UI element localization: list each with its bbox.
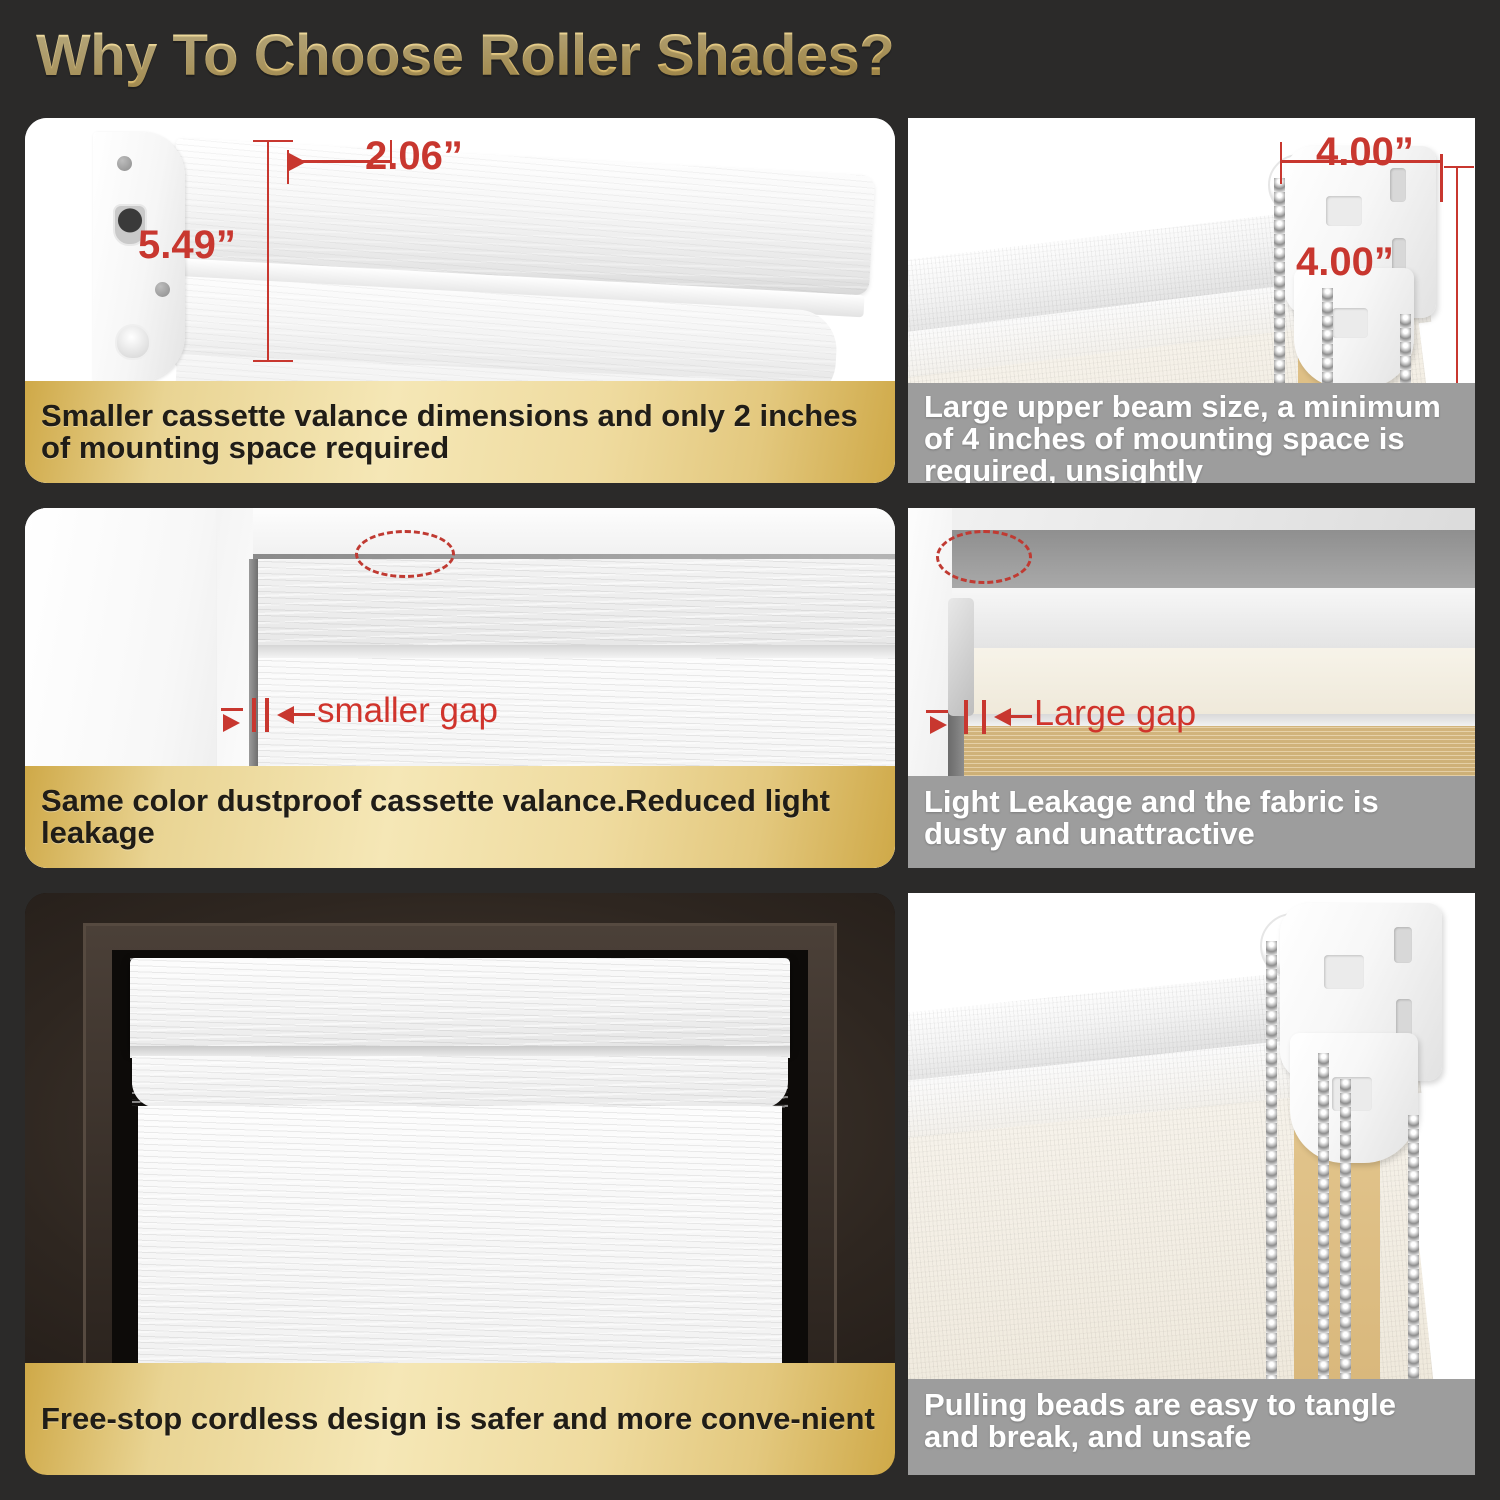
- bead-chain: [1340, 1079, 1351, 1383]
- dim-tick-right: [1440, 154, 1443, 202]
- dim-line-height: [267, 140, 269, 362]
- gap-arrow-shaft: [221, 708, 243, 711]
- panel-large-beam: 4.00” 4.00” Large upper beam size, a min…: [908, 118, 1475, 483]
- bead-chain: [1318, 1053, 1329, 1383]
- window-header: [253, 508, 895, 554]
- bracket-emboss-icon: [1332, 308, 1368, 338]
- dimension-label-height: 5.49”: [138, 223, 236, 268]
- bracket-emboss-icon: [1324, 955, 1364, 989]
- bead-chain: [1266, 941, 1277, 1381]
- gap-tick-right: [982, 700, 986, 734]
- panel-light-leakage: Large gap Light Leakage and the fabric i…: [908, 508, 1475, 868]
- gap-callout-label: Large gap: [1034, 692, 1196, 734]
- bracket-slot-icon: [1394, 927, 1412, 963]
- bead-chain: [1408, 1115, 1419, 1383]
- dimension-label-width: 4.00”: [1316, 130, 1414, 175]
- screw-icon: [155, 282, 170, 297]
- panel-4-caption-text: Light Leakage and the fabric is dusty an…: [924, 786, 1459, 850]
- panel-5-caption: Free-stop cordless design is safer and m…: [25, 1363, 895, 1475]
- cassette-valance: [257, 559, 895, 645]
- panel-2-caption-text: Large upper beam size, a minimum of 4 in…: [924, 391, 1459, 483]
- infographic-root: Why To Choose Roller Shades? 2.06”: [0, 0, 1500, 1500]
- bracket-emboss-icon: [1332, 1077, 1372, 1111]
- panel-6-caption: Pulling beads are easy to tangle and bre…: [908, 1379, 1475, 1475]
- bracket-emboss-icon: [1326, 196, 1362, 226]
- gap-arrow-shaft: [1010, 715, 1032, 718]
- panel-cordless-design: Free-stop cordless design is safer and m…: [25, 893, 895, 1475]
- gap-callout-label: smaller gap: [317, 691, 498, 731]
- panel-6-caption-text: Pulling beads are easy to tangle and bre…: [924, 1389, 1459, 1453]
- panel-1-caption: Smaller cassette valance dimensions and …: [25, 381, 895, 483]
- gap-tick-left: [964, 700, 968, 734]
- panel-1-caption-text: Smaller cassette valance dimensions and …: [41, 400, 879, 464]
- dim-tick-top: [1444, 166, 1474, 168]
- gap-arrow-shaft: [293, 713, 315, 716]
- panel-3-caption-text: Same color dustproof cassette valance.Re…: [41, 785, 879, 849]
- highlight-ellipse: [936, 530, 1032, 584]
- panel-smaller-cassette: 2.06” 5.49” Smaller cassette valance dim…: [25, 118, 895, 483]
- cassette-valance: [130, 958, 790, 1050]
- gap-tick-right: [265, 698, 269, 732]
- dimension-label-width: 2.06”: [365, 134, 463, 179]
- mounting-bracket-lower: [1290, 1033, 1418, 1163]
- upper-beam-light: [952, 588, 1475, 648]
- panel-pulling-beads: Pulling beads are easy to tangle and bre…: [908, 893, 1475, 1475]
- valance-lip: [255, 645, 895, 658]
- page-title: Why To Choose Roller Shades?: [36, 22, 894, 89]
- panel-2-caption: Large upper beam size, a minimum of 4 in…: [908, 383, 1475, 483]
- panel-3-caption: Same color dustproof cassette valance.Re…: [25, 766, 895, 868]
- gap-tick-left: [252, 698, 256, 732]
- dim-tick-top: [253, 140, 293, 142]
- roller-tube: [132, 1056, 788, 1108]
- exposed-hardware: [948, 598, 974, 716]
- panel-4-caption: Light Leakage and the fabric is dusty an…: [908, 776, 1475, 868]
- end-cap-knob-icon: [115, 324, 151, 360]
- gap-arrow-right-icon: [930, 716, 947, 734]
- screw-icon: [117, 156, 132, 171]
- dim-tick-left: [1280, 142, 1282, 184]
- mounting-bracket-lower: [1294, 268, 1414, 388]
- gap-arrow-left-icon: [277, 706, 294, 724]
- highlight-ellipse: [355, 530, 455, 578]
- dimension-label-height: 4.00”: [1296, 240, 1394, 285]
- dim-tick-bottom: [253, 360, 293, 362]
- panel-5-caption-text: Free-stop cordless design is safer and m…: [41, 1403, 875, 1435]
- dim-arrow-right-icon: [289, 153, 306, 171]
- gap-arrow-right-icon: [223, 714, 240, 732]
- gap-arrow-left-icon: [994, 708, 1011, 726]
- gap-arrow-shaft: [926, 710, 948, 713]
- panel-dustproof-valance: smaller gap Same color dustproof cassett…: [25, 508, 895, 868]
